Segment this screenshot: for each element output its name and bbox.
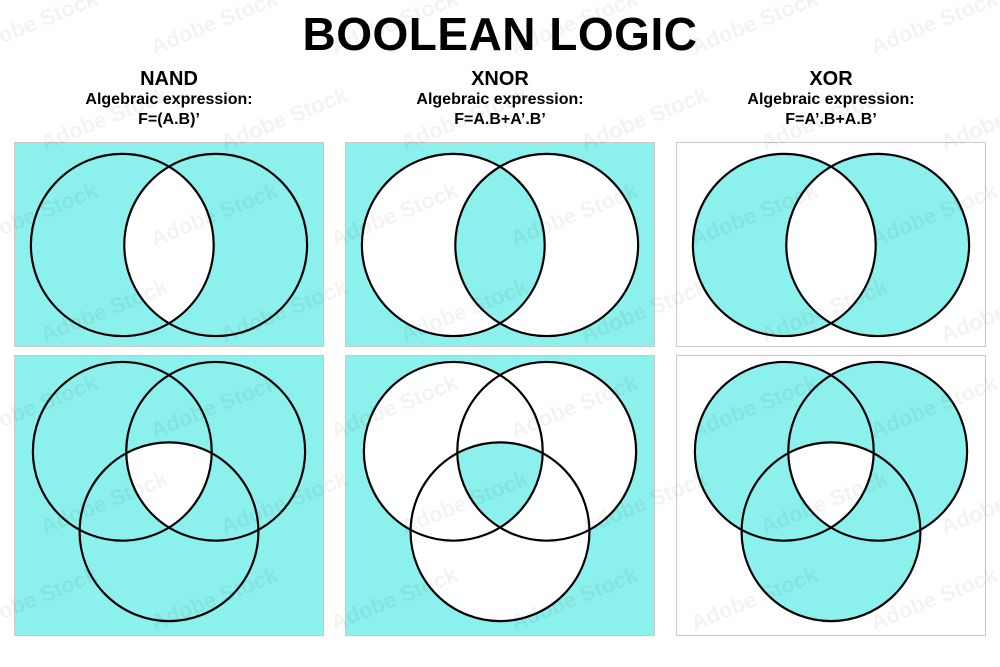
venn-panel-xnor-three-set <box>345 355 655 636</box>
venn-panel-xor-three-set <box>676 355 986 636</box>
venn-panel-nand-three-set <box>14 355 324 636</box>
venn-panel-xnor-two-set <box>345 142 655 347</box>
gate-name-xor: XOR <box>676 68 986 90</box>
expression-value-xnor: F=A.B+A’.B’ <box>345 110 655 130</box>
gate-name-xnor: XNOR <box>345 68 655 90</box>
column-header-xor: XOR Algebraic expression: F=A’.B+A.B’ <box>676 68 986 130</box>
column-header-nand: NAND Algebraic expression: F=(A.B)’ <box>14 68 324 130</box>
venn-panel-xor-two-set <box>676 142 986 347</box>
expression-value-xor: F=A’.B+A.B’ <box>676 110 986 130</box>
venn-panel-nand-two-set <box>14 142 324 347</box>
expression-value-nand: F=(A.B)’ <box>14 110 324 130</box>
expression-label-xnor: Algebraic expression: <box>345 90 655 110</box>
page-title: BOOLEAN LOGIC <box>0 6 1000 62</box>
gate-name-nand: NAND <box>14 68 324 90</box>
expression-label-nand: Algebraic expression: <box>14 90 324 110</box>
expression-label-xor: Algebraic expression: <box>676 90 986 110</box>
column-header-xnor: XNOR Algebraic expression: F=A.B+A’.B’ <box>345 68 655 130</box>
